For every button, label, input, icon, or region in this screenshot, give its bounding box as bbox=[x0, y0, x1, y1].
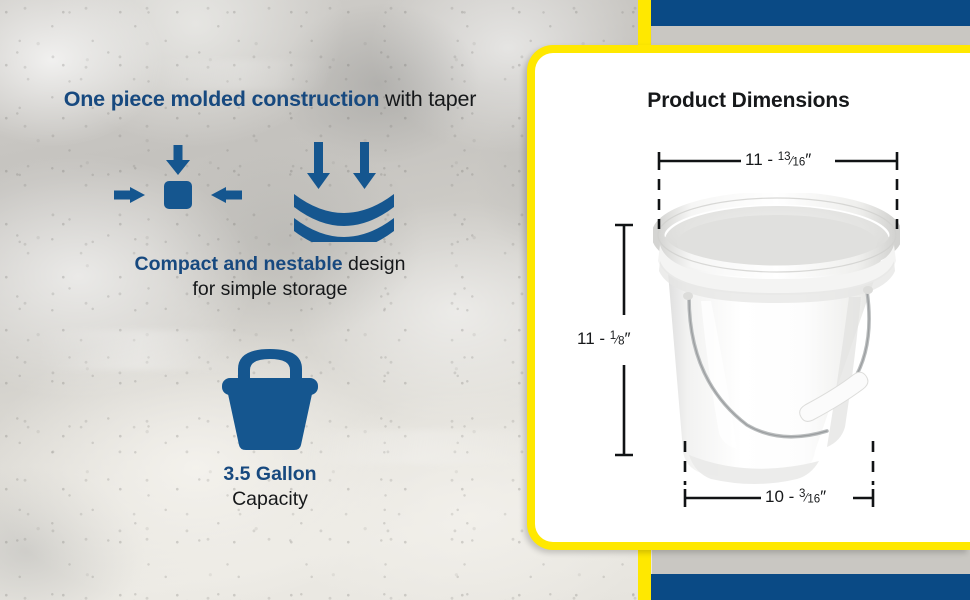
dimension-lines bbox=[535, 53, 962, 542]
compression-arrows-icon bbox=[108, 145, 248, 240]
headline: One piece molded construction with taper bbox=[0, 87, 540, 112]
feature-icon-row bbox=[0, 140, 540, 245]
blue-block-bottom bbox=[651, 574, 970, 600]
dimension-top-width: 11 - 13⁄16″ bbox=[745, 150, 811, 170]
headline-rest: with taper bbox=[379, 87, 476, 111]
infographic-canvas: One piece molded construction with taper bbox=[0, 0, 970, 600]
capacity-value: 3.5 Gallon bbox=[223, 463, 316, 485]
blue-block-top bbox=[651, 0, 970, 26]
subhead-strong: Compact and nestable bbox=[135, 253, 343, 275]
product-dimensions-panel: Product Dimensions bbox=[527, 45, 970, 550]
left-feature-column: One piece molded construction with taper bbox=[0, 0, 540, 600]
subhead: Compact and nestable design for simple s… bbox=[0, 252, 540, 302]
headline-strong: One piece molded construction bbox=[64, 87, 380, 111]
dimension-bottom-width: 10 - 3⁄16″ bbox=[765, 487, 826, 507]
subhead-line2: for simple storage bbox=[193, 278, 348, 300]
capacity-label: Capacity bbox=[232, 488, 308, 510]
nesting-arrows-icon bbox=[288, 142, 400, 242]
capacity-text: 3.5 Gallon Capacity bbox=[0, 462, 540, 512]
dimension-diagram: 11 - 13⁄16″ 11 - 1⁄8″ 10 - 3⁄16″ bbox=[535, 53, 962, 542]
dimension-height: 11 - 1⁄8″ bbox=[577, 329, 631, 349]
subhead-rest: design bbox=[343, 253, 406, 275]
bucket-icon bbox=[212, 345, 328, 450]
